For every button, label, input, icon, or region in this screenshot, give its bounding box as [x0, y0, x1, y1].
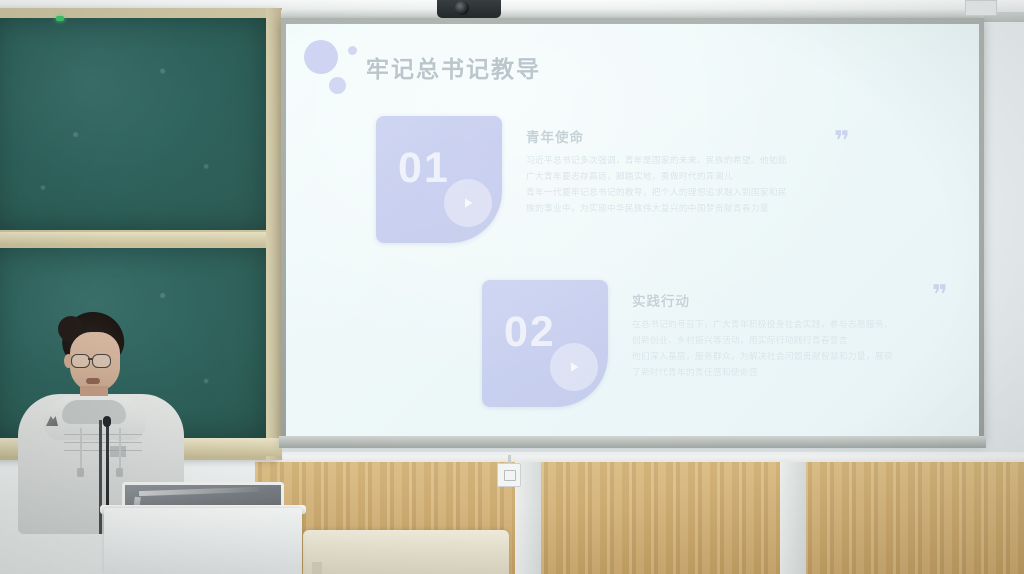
drawstring-tip-right: [116, 468, 123, 477]
projector-status-led: [56, 16, 64, 21]
drawstring-tip-left: [77, 468, 84, 477]
chalkboard-upper-panel: [0, 18, 266, 230]
block-02-line-1: 在总书记的号召下，广大青年积极投身社会实践，参与志愿服务、: [632, 316, 962, 332]
chalkboard-right-rail: [266, 8, 282, 460]
hoodie-chest-badge: [110, 446, 126, 457]
block-01-line-3: 青年一代要牢记总书记的教导，把个人的理想追求融入到国家和民: [526, 184, 856, 200]
eyeglasses-icon: [92, 354, 111, 368]
monitor-glare: [139, 487, 259, 496]
quote-mark-icon: ❞: [932, 282, 948, 309]
hoodie-zipper: [99, 420, 102, 534]
chalk-dust-texture: [0, 18, 266, 230]
block-02-text-column: 实践行动 在总书记的号召下，广大青年积极投身社会实践，参与志愿服务、 创新创业、…: [632, 290, 962, 380]
hoodie-chest-print: [64, 430, 142, 458]
front-desk: [303, 530, 509, 574]
ceiling-mount-plate: [965, 0, 997, 16]
circle-large-decor-icon: [304, 40, 338, 74]
number-card-02[interactable]: 02: [482, 280, 608, 407]
play-icon[interactable]: [444, 179, 492, 227]
eyeglasses-bridge: [88, 358, 93, 360]
mouth: [86, 378, 100, 384]
block-01-line-4: 族的事业中，为实现中华民族伟大复兴的中国梦贡献青春力量: [526, 200, 856, 216]
block-01-heading: 青年使命: [526, 126, 856, 146]
block-01-line-1: 习近平总书记多次强调，青年是国家的未来、民族的希望。他勉励: [526, 152, 856, 168]
hood-opening: [62, 400, 126, 424]
block-02-line-4: 了新时代青年的责任感和使命感: [632, 364, 962, 380]
card-number-label: 02: [504, 308, 556, 357]
screen-bottom-bar: [279, 436, 986, 448]
block-02-line-2: 创新创业、乡村振兴等活动，用实际行动践行青春誓言: [632, 332, 962, 348]
projector-lens-icon: [455, 1, 469, 15]
block-01-line-2: 广大青年要志存高远，脚踏实地，勇做时代的弄潮儿: [526, 168, 856, 184]
microphone-icon: [103, 416, 111, 427]
play-icon[interactable]: [550, 343, 598, 391]
quote-mark-icon: ❞: [834, 128, 850, 155]
chalkboard-ledge: [0, 232, 272, 245]
ceiling-projector: [437, 0, 501, 18]
number-card-01[interactable]: 01: [376, 116, 502, 243]
presentation-slide: 牢记总书记教导 01 青年使命 习近平总书记多次强调，青年是国家的未来、民族的希…: [286, 24, 979, 436]
wall-pillar-right: [780, 462, 806, 574]
eyeglasses-icon: [71, 354, 90, 368]
lecture-podium: [104, 508, 302, 574]
card-number-label: 01: [398, 144, 450, 193]
wall-outlet[interactable]: [497, 463, 521, 487]
block-01-text-column: 青年使命 习近平总书记多次强调，青年是国家的未来、民族的希望。他勉励 广大青年要…: [526, 126, 856, 216]
block-02-heading: 实践行动: [632, 290, 962, 310]
slide-title: 牢记总书记教导: [366, 50, 541, 84]
circle-medium-decor-icon: [329, 77, 346, 94]
block-02-line-3: 他们深入基层，服务群众，为解决社会问题贡献智慧和力量，展现: [632, 348, 962, 364]
desk-leg: [312, 562, 322, 574]
circle-small-decor-icon: [348, 46, 357, 55]
hoodie-drawstring-left: [80, 428, 82, 470]
classroom-scene: 牢记总书记教导 01 青年使命 习近平总书记多次强调，青年是国家的未来、民族的希…: [0, 0, 1024, 574]
hoodie-drawstring-right: [119, 428, 121, 470]
